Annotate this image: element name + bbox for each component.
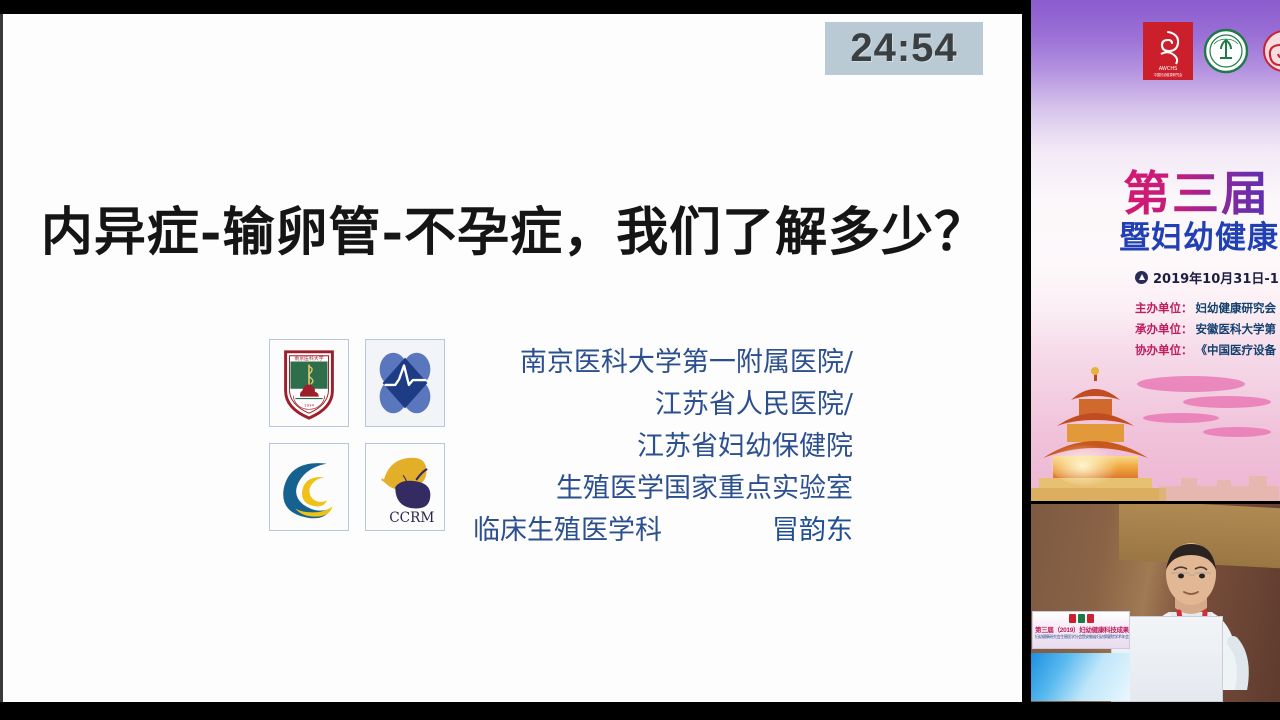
countdown-timer-value: 24:54 [850,26,957,71]
banner-logo-red: AWCHS 中国妇幼健康研究会 [1143,22,1193,80]
banner-date-text: 2019年10月31日-11 [1153,268,1280,287]
banner-organizers: 主办单位： 妇幼健康研究会 承办单位： 安徽医科大学第 协办单位： 《中国医疗设… [1135,298,1276,361]
svg-text:中国妇幼健康研究会: 中国妇幼健康研究会 [1154,72,1183,77]
ccrm-logo: CCRM [365,443,445,531]
affiliation-line-2: 江苏省人民医院/ [473,384,853,426]
banner-title-sub: 暨妇幼健康 [1119,212,1279,257]
organizer-value: 安徽医科大学第 [1196,319,1277,340]
podium: 第三届（2019）妇幼健康科技成果展览会 妇幼健康研究会生殖医学分会暨安徽省妇幼… [1111,616,1223,702]
conference-sidebar: AWCHS 中国妇幼健康研究会 [1031,0,1280,720]
temple-of-heaven-illustration [1031,366,1280,501]
organizer-key: 承办单位： [1135,319,1193,340]
ccrm-logo-text: CCRM [389,510,434,526]
podium-sign-logos [1035,614,1127,623]
organizer-key: 协办单位： [1135,340,1193,361]
logo-grid: 南京医科大学 1934 [269,339,469,547]
affiliation-line-4: 生殖医学国家重点实验室 [473,468,853,510]
njmu-founding-year: 1934 [304,402,314,407]
banner-logo-row: AWCHS 中国妇幼健康研究会 [1143,22,1280,80]
affiliation-line-3: 江苏省妇幼保健院 [473,426,853,468]
jiangsu-peoples-hospital-logo [365,339,445,427]
speaker-video-feed[interactable]: 第三届（2019）妇幼健康科技成果展览会 妇幼健康研究会生殖医学分会暨安徽省妇幼… [1031,504,1280,702]
banner-logo-rose [1259,22,1280,80]
organizer-row: 承办单位： 安徽医科大学第 [1135,319,1276,340]
podium-logo-red [1069,614,1076,623]
presentation-screen: 24:54 内异症-输卵管-不孕症，我们了解多少？ 南京医科大学 [0,0,1280,720]
countdown-timer: 24:54 [825,22,983,75]
department-and-presenter: 临床生殖医学科 冒韵东 [473,510,853,552]
svg-text:AWCHS: AWCHS [1159,66,1178,72]
logo-row-top: 南京医科大学 1934 [269,339,469,427]
organizer-key: 主办单位： [1135,298,1193,319]
slide-panel: 24:54 内异症-输卵管-不孕症，我们了解多少？ 南京医科大学 [0,14,1022,702]
presenter-name: 冒韵东 [772,510,853,552]
organizer-row: 主办单位： 妇幼健康研究会 [1135,298,1276,319]
podium-sign-line-2: 妇幼健康研究会生殖医学分会暨安徽省妇幼保健院学术年会 [1035,634,1127,640]
banner-date: 2019年10月31日-11 [1135,268,1280,287]
organizer-value: 妇幼健康研究会 [1196,298,1277,319]
projection-screen [1031,653,1130,701]
podium-sign-line-1: 第三届（2019）妇幼健康科技成果展览会 [1035,624,1127,634]
organizer-value: 《中国医疗设备 [1196,340,1277,361]
bottom-black-bar [0,702,1280,720]
location-pin-icon [1135,271,1148,284]
department-label: 临床生殖医学科 [473,510,662,552]
logo-row-bottom: CCRM [269,443,469,531]
top-black-bar [0,0,1031,14]
organizer-row: 协办单位： 《中国医疗设备 [1135,340,1276,361]
podium-sign: 第三届（2019）妇幼健康科技成果展览会 妇幼健康研究会生殖医学分会暨安徽省妇幼… [1032,611,1130,649]
njmu-shield-logo: 南京医科大学 1934 [269,339,349,427]
affiliation-line-1: 南京医科大学第一附属医院/ [473,342,853,384]
affiliation-block: 南京医科大学第一附属医院/ 江苏省人民医院/ 江苏省妇幼保健院 生殖医学国家重点… [473,342,853,552]
slide-title: 内异症-输卵管-不孕症，我们了解多少？ [3,190,1022,265]
podium-logo-rose [1087,614,1094,623]
svg-text:南京医科大学: 南京医科大学 [294,355,323,362]
conference-banner: AWCHS 中国妇幼健康研究会 [1031,0,1280,504]
jiangsu-maternal-child-health-logo [269,443,349,531]
banner-logo-green [1201,22,1251,80]
podium-logo-green [1078,614,1085,623]
